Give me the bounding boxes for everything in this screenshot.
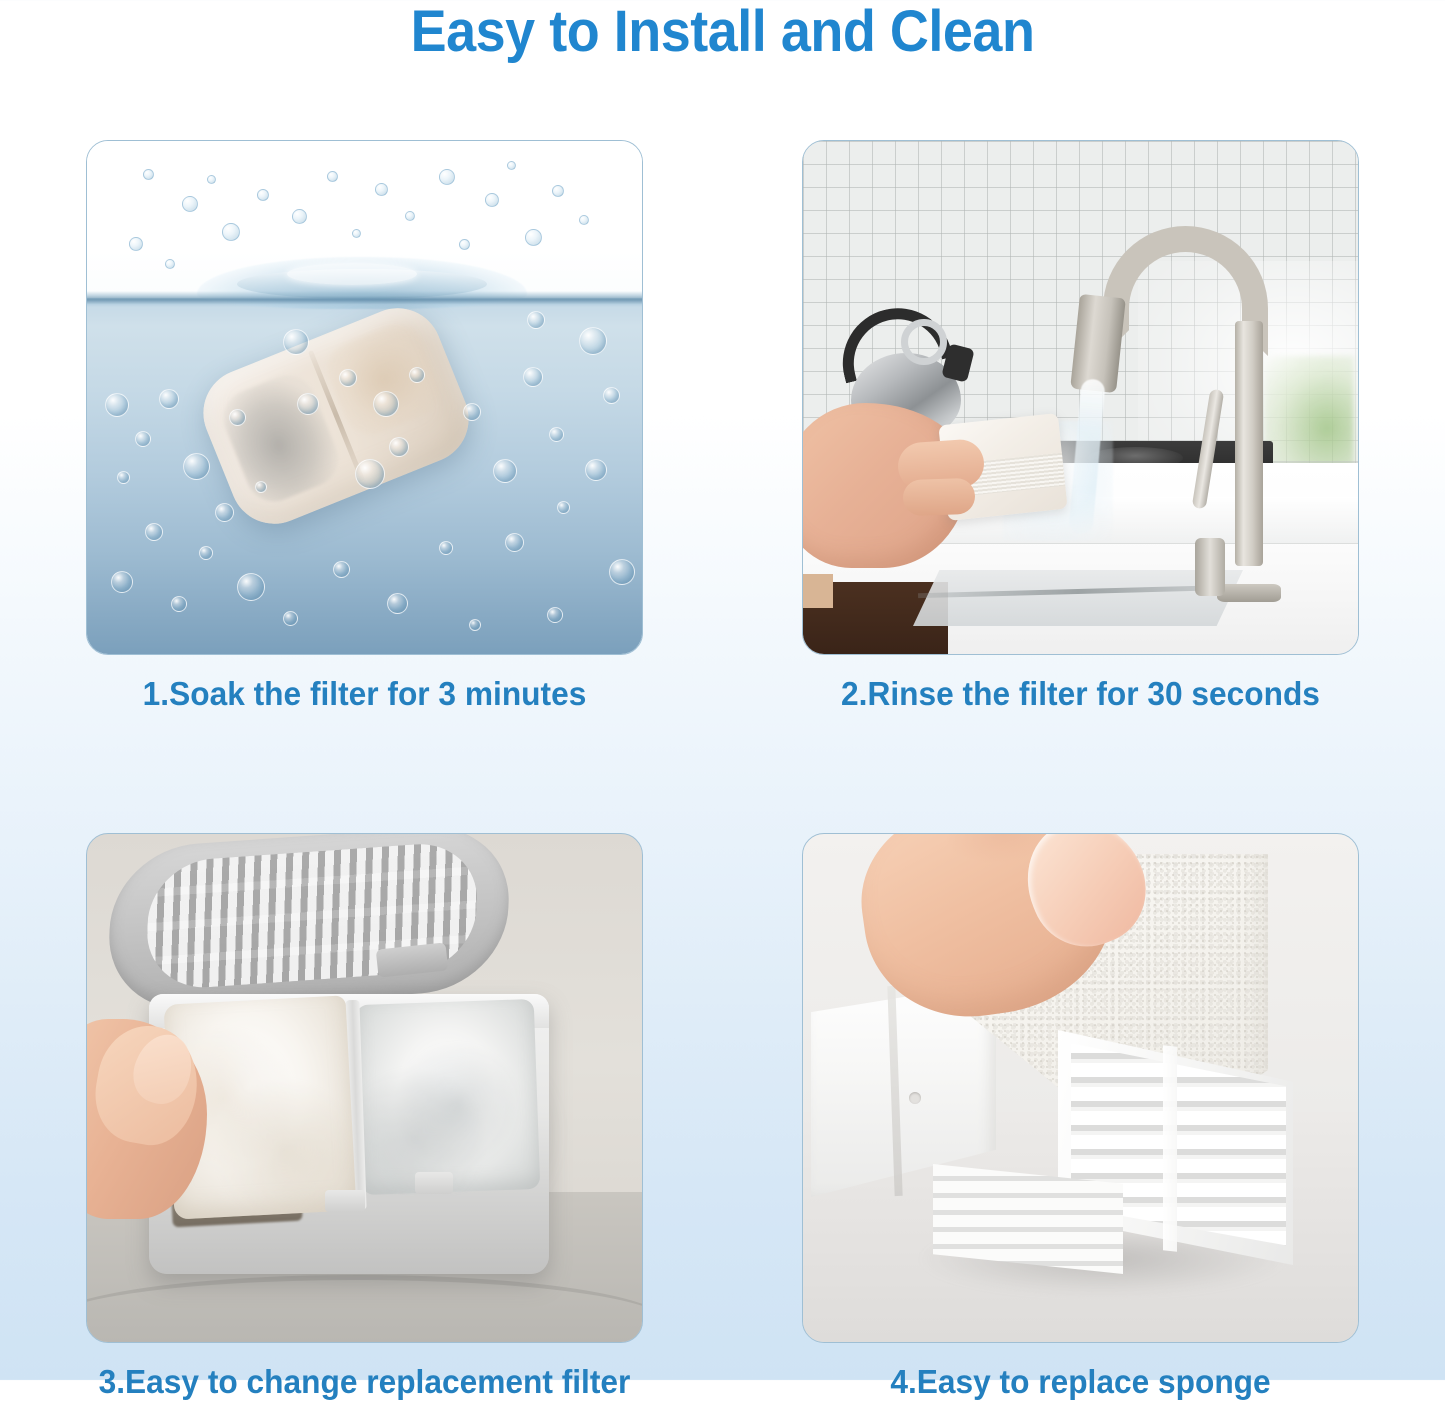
bubble: [159, 389, 179, 409]
plant: [1264, 356, 1354, 476]
droplet: [579, 215, 589, 225]
step-image-1: [86, 140, 643, 655]
bubble: [609, 559, 635, 585]
bubble: [549, 427, 564, 442]
bubble: [557, 501, 570, 514]
bubble: [105, 393, 129, 417]
droplet: [207, 175, 216, 184]
bubble: [355, 459, 385, 489]
filter-pad-right: [356, 999, 541, 1195]
bubble: [523, 367, 543, 387]
bubble: [469, 619, 481, 631]
step-cell-2: 2.Rinse the filter for 30 seconds: [802, 140, 1359, 713]
water-surface-line: [87, 291, 642, 307]
step-caption-3: 3.Easy to change replacement filter: [97, 1363, 632, 1401]
step-cell-1: 1.Soak the filter for 3 minutes: [86, 140, 643, 713]
kettle-ring: [901, 319, 947, 365]
bubble: [585, 459, 607, 481]
bubble: [333, 561, 350, 578]
housing-latch-tab: [415, 1172, 453, 1194]
step-caption-2: 2.Rinse the filter for 30 seconds: [813, 675, 1348, 713]
droplet: [165, 259, 175, 269]
bubble: [493, 459, 517, 483]
housing-latch-tab: [325, 1190, 365, 1212]
housing-slat-divider: [1163, 1045, 1177, 1251]
droplet: [439, 169, 455, 185]
droplet: [143, 169, 154, 180]
bubble: [135, 431, 151, 447]
bubble: [255, 481, 267, 493]
step-image-3: [86, 833, 643, 1343]
droplet: [375, 183, 388, 196]
droplet: [485, 193, 499, 207]
bubble: [229, 409, 246, 426]
soap-dispenser: [1195, 538, 1225, 596]
bubble: [373, 391, 399, 417]
bubble: [339, 369, 357, 387]
step-caption-1: 1.Soak the filter for 3 minutes: [97, 675, 632, 713]
step-caption-4: 4.Easy to replace sponge: [813, 1363, 1348, 1401]
bubble: [283, 611, 298, 626]
steps-row-1: 1.Soak the filter for 3 minutes: [0, 140, 1445, 713]
faucet-base: [1217, 584, 1281, 602]
water-splash-highlight: [287, 263, 417, 285]
droplet: [292, 209, 307, 224]
step-image-2: [802, 140, 1359, 655]
bubble: [603, 387, 620, 404]
bubble: [439, 541, 453, 555]
bubble: [145, 523, 163, 541]
droplet: [459, 239, 470, 250]
bubble: [387, 593, 408, 614]
bubble: [389, 437, 409, 457]
bubble: [409, 367, 425, 383]
bubble: [283, 329, 309, 355]
droplet: [257, 189, 269, 201]
bubble: [117, 471, 130, 484]
cabinet-panel: [803, 574, 833, 608]
droplet: [222, 223, 240, 241]
page-title: Easy to Install and Clean: [51, 0, 1395, 63]
steps-row-2: 3.Easy to change replacement filter: [0, 833, 1445, 1401]
step-cell-3: 3.Easy to change replacement filter: [86, 833, 643, 1401]
droplet: [552, 185, 564, 197]
bubble: [183, 453, 210, 480]
droplet: [327, 171, 338, 182]
bubble: [527, 311, 545, 329]
bubble: [547, 607, 563, 623]
housing-vent-hole: [909, 1092, 921, 1104]
droplet: [129, 237, 143, 251]
faucet-column: [1235, 321, 1263, 566]
step-image-4: [802, 833, 1359, 1343]
bubble: [579, 327, 607, 355]
droplet: [525, 229, 542, 246]
bubble: [111, 571, 133, 593]
bubble: [505, 533, 524, 552]
steps-grid: 1.Soak the filter for 3 minutes: [0, 140, 1445, 1401]
bubble: [199, 546, 213, 560]
bubble: [297, 393, 319, 415]
step-cell-4: 4.Easy to replace sponge: [802, 833, 1359, 1401]
filter-pad-texture: [356, 999, 541, 1195]
droplet: [507, 161, 516, 170]
bubble: [237, 573, 265, 601]
bubble: [463, 403, 481, 421]
bubble: [171, 596, 187, 612]
droplet: [405, 211, 415, 221]
sink-basin: [913, 570, 1243, 626]
bubble: [215, 503, 234, 522]
droplet: [352, 229, 361, 238]
droplet: [182, 196, 198, 212]
finger: [902, 478, 975, 516]
